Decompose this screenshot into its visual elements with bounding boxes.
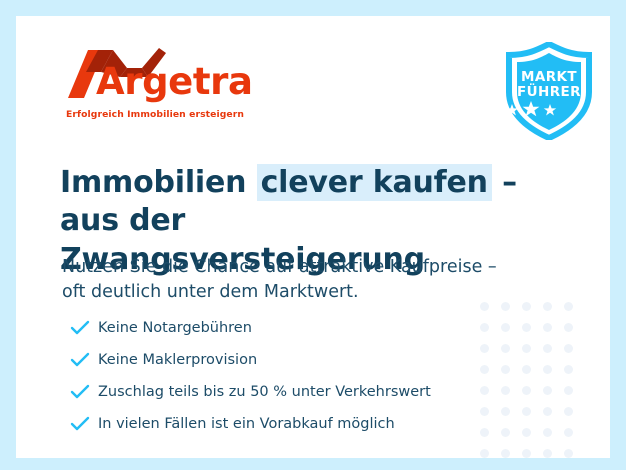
subheadline-line1: Nutzen Sie die Chance auf attraktive Kau… <box>62 255 582 281</box>
dot <box>564 407 573 416</box>
subheadline-line2: oft deutlich unter dem Marktwert. <box>62 280 582 306</box>
dot <box>564 449 573 458</box>
market-leader-badge: MARKT FÜHRER <box>503 42 595 140</box>
list-item: Keine Notargebühren <box>70 312 540 344</box>
dot <box>480 449 489 458</box>
dot <box>543 407 552 416</box>
dot <box>543 449 552 458</box>
badge-line2: FÜHRER <box>503 84 595 100</box>
badge-line1: MARKT <box>503 69 595 85</box>
dot <box>522 449 531 458</box>
logo-wordmark: Argetra <box>96 63 253 100</box>
list-item-label: In vielen Fällen ist ein Vorabkauf mögli… <box>98 416 395 432</box>
ad-card: Argetra Erfolgreich Immobilien ersteiger… <box>16 16 610 458</box>
logo-tagline: Erfolgreich Immobilien ersteigern <box>66 109 244 120</box>
dot <box>543 323 552 332</box>
list-item: Keine Maklerprovision <box>70 344 540 376</box>
headline-line1-before: Immobilien <box>60 165 257 200</box>
list-item: Zuschlag teils bis zu 50 % unter Verkehr… <box>70 376 540 408</box>
list-item-label: Keine Maklerprovision <box>98 352 257 368</box>
dot <box>501 449 510 458</box>
dot <box>543 386 552 395</box>
list-item: In vielen Fällen ist ein Vorabkauf mögli… <box>70 408 540 440</box>
dot <box>564 428 573 437</box>
dot <box>564 323 573 332</box>
headline-highlight: clever kaufen <box>257 164 492 201</box>
list-item-label: Zuschlag teils bis zu 50 % unter Verkehr… <box>98 384 431 400</box>
benefits-checklist: Keine Notargebühren Keine Maklerprovisio… <box>70 312 540 440</box>
dot <box>564 386 573 395</box>
dot <box>543 344 552 353</box>
dot <box>564 365 573 374</box>
check-icon <box>70 352 98 368</box>
check-icon <box>70 320 98 336</box>
dot <box>543 428 552 437</box>
argetra-logo[interactable]: Argetra Erfolgreich Immobilien ersteiger… <box>58 46 268 136</box>
check-icon <box>70 384 98 400</box>
badge-stars <box>503 101 595 117</box>
list-item-label: Keine Notargebühren <box>98 320 252 336</box>
headline-line1-after: – <box>492 165 517 200</box>
check-icon <box>70 416 98 432</box>
ad-frame: Argetra Erfolgreich Immobilien ersteiger… <box>0 0 626 470</box>
dot <box>564 344 573 353</box>
subheadline: Nutzen Sie die Chance auf attraktive Kau… <box>62 255 582 306</box>
three-stars-icon <box>503 101 559 117</box>
dot <box>543 365 552 374</box>
